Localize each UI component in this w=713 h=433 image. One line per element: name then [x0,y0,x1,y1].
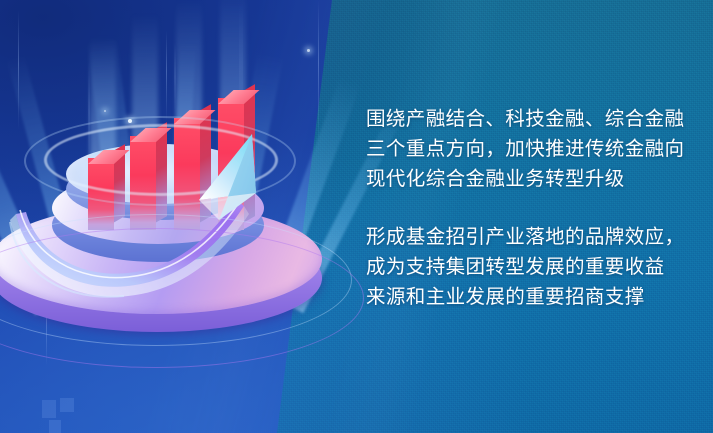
paragraph-2-line-1: 形成基金招引产业落地的品牌效应， [366,226,684,248]
platform-illustration [0,96,345,346]
paragraph-2-line-2: 成为支持集团转型发展的重要收益 [366,256,665,278]
sparkle-dot [104,110,106,112]
decorative-square [49,420,61,433]
paragraph-1-line-1: 围绕产融结合、科技金融、综合金融 [366,108,684,130]
decorative-square [42,400,56,418]
paragraph-2-line-3: 来源和主业发展的重要招商支撑 [366,286,645,308]
promo-banner: 围绕产融结合、科技金融、综合金融 三个重点方向，加快推进传统金融向 现代化综合金… [0,0,713,433]
decorative-square [60,398,74,412]
paragraph-2: 形成基金招引产业落地的品牌效应， 成为支持集团转型发展的重要收益 来源和主业发展… [366,222,696,312]
copy-block: 围绕产融结合、科技金融、综合金融 三个重点方向，加快推进传统金融向 现代化综合金… [366,104,696,312]
paragraph-1-line-2: 三个重点方向，加快推进传统金融向 [366,138,684,160]
sparkle-dot [307,49,310,52]
paragraph-1-line-3: 现代化综合金融业务转型升级 [366,168,625,190]
sparkle-dot [128,119,132,123]
paragraph-1: 围绕产融结合、科技金融、综合金融 三个重点方向，加快推进传统金融向 现代化综合金… [366,104,696,194]
